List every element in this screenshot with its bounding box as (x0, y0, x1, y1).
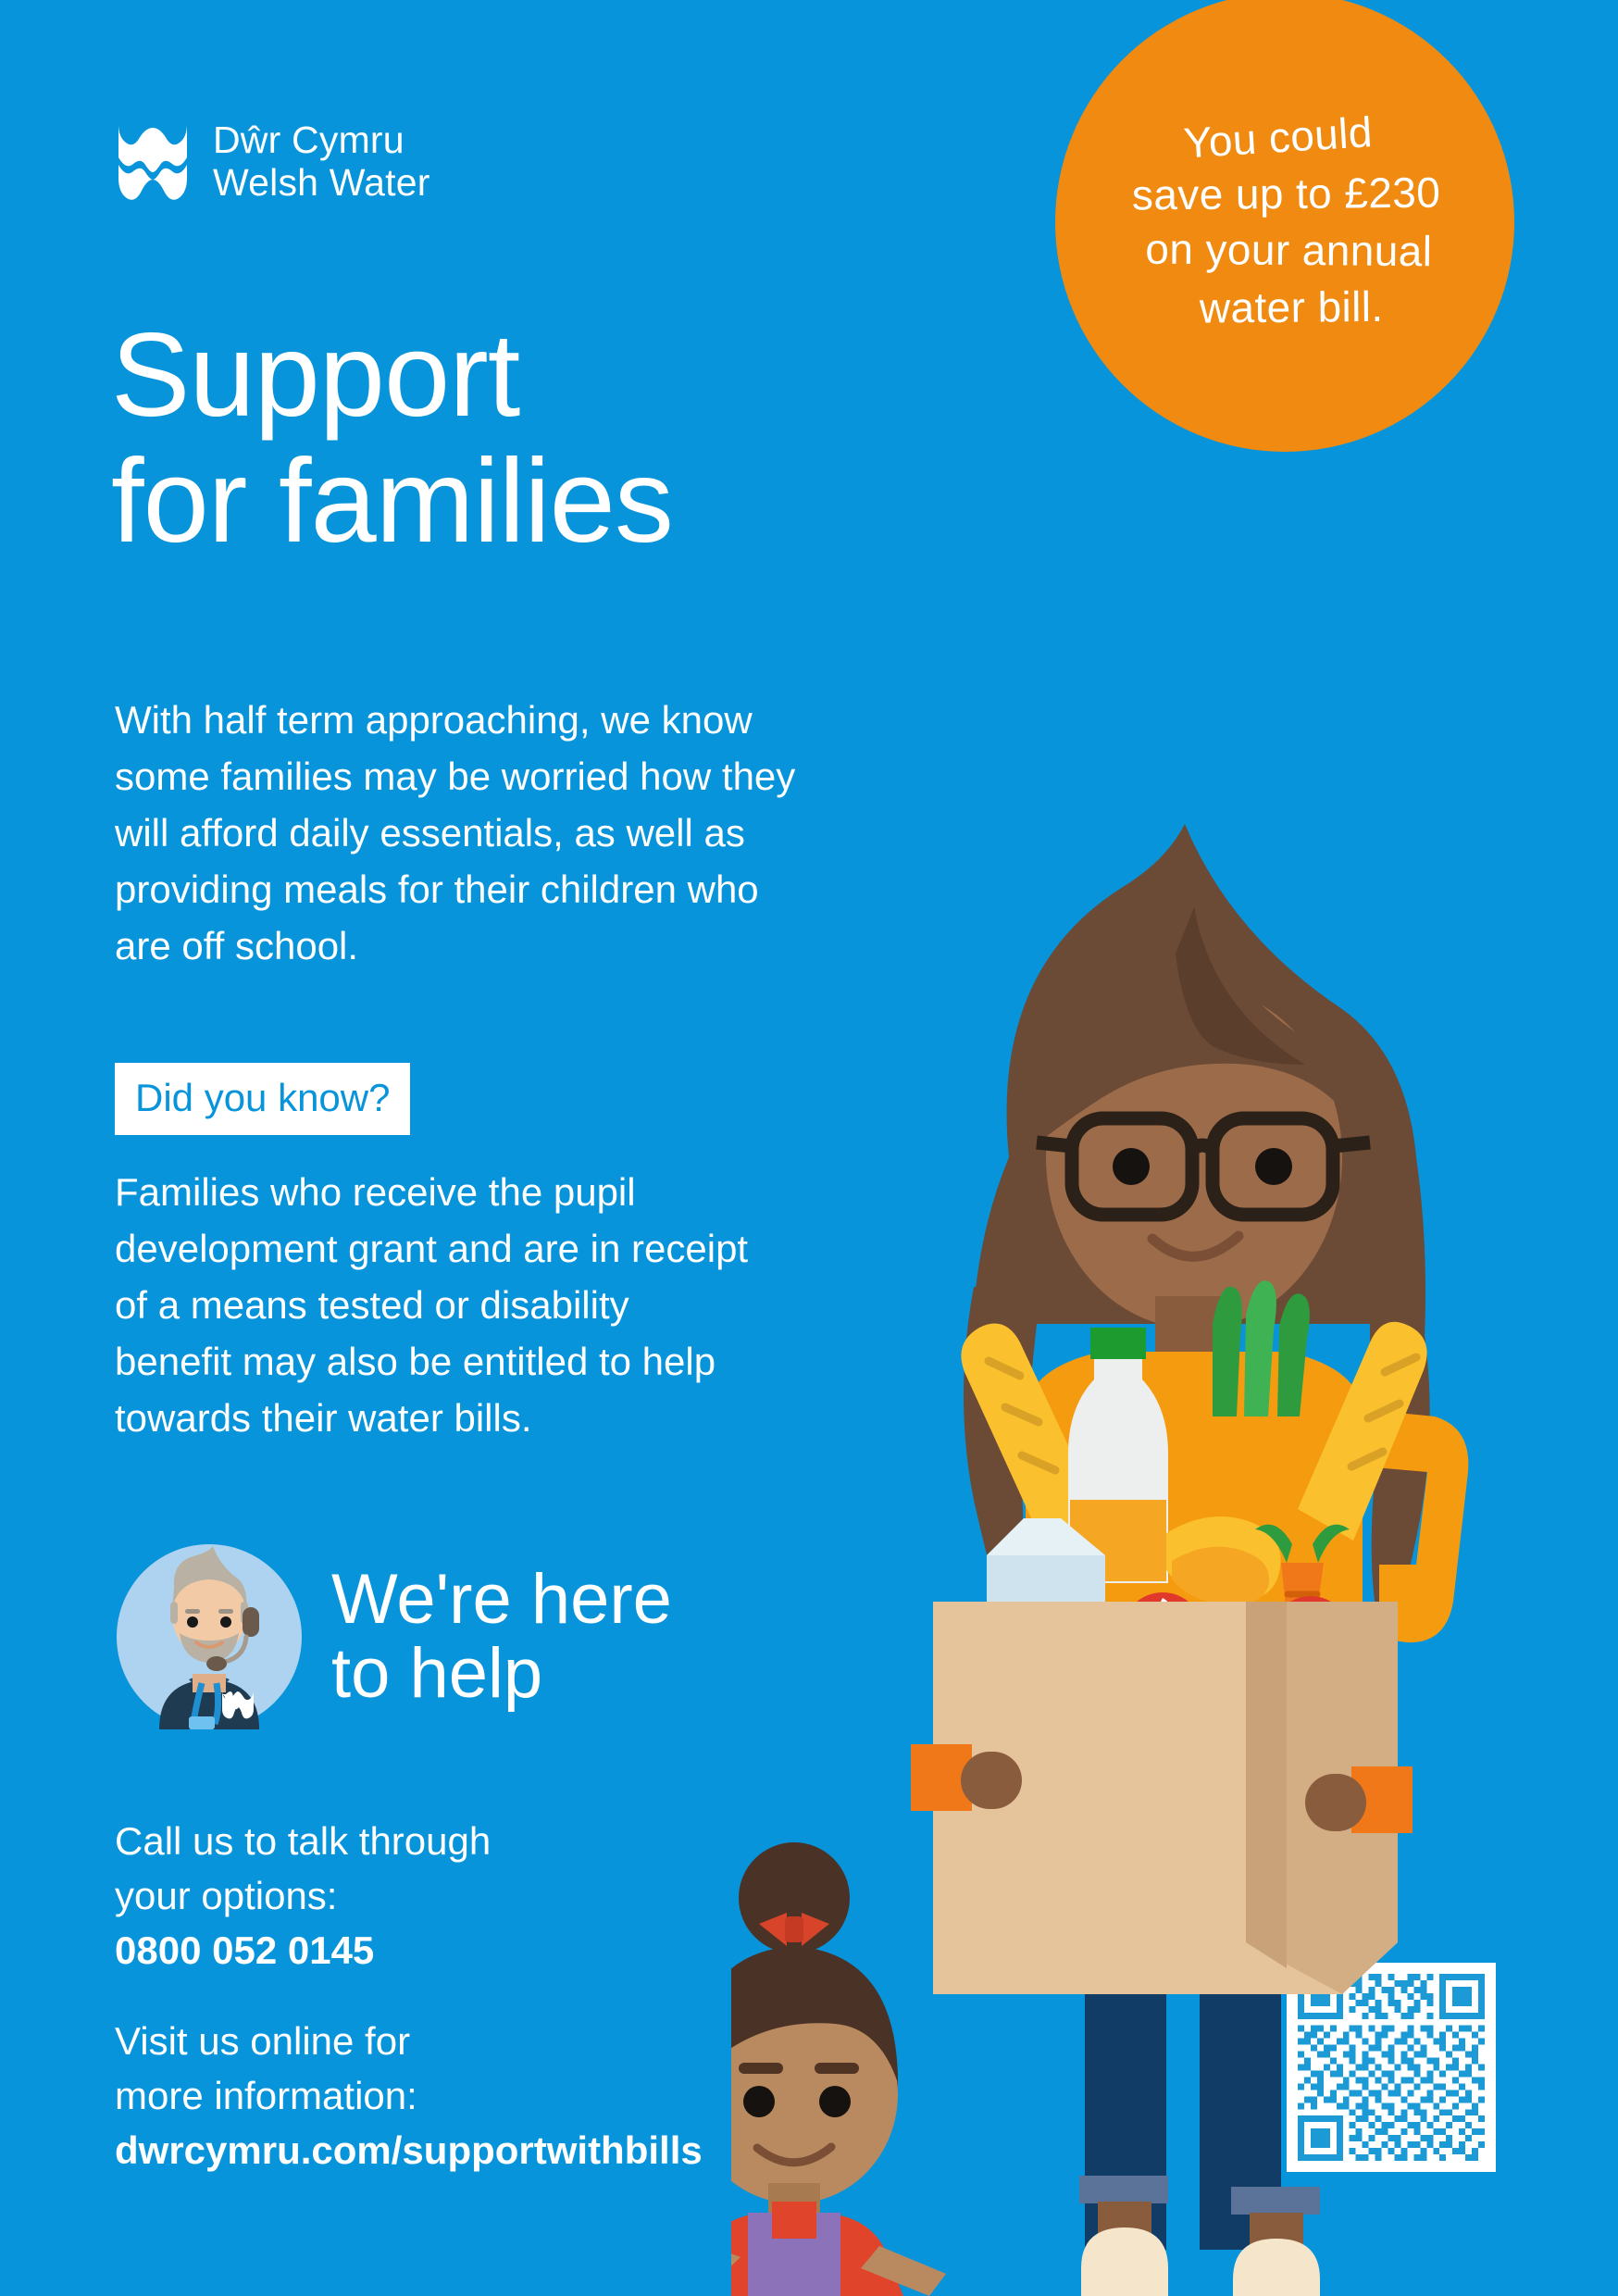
did-you-know-badge: Did you know? (115, 1063, 410, 1135)
poster-canvas: Dŵr Cymru Welsh Water You could save up … (0, 0, 1618, 2296)
phone-number[interactable]: 0800 052 0145 (115, 1924, 703, 1978)
visit-line2: more information: (115, 2069, 703, 2124)
visit-line1: Visit us online for (115, 2015, 703, 2069)
intro-line2: some families may be worried how they (115, 749, 795, 805)
page-title: Support for families (111, 313, 673, 564)
savings-badge-line3: on your annual (1094, 220, 1484, 281)
intro-line5: are off school. (115, 918, 795, 975)
brand-name-line1: Dŵr Cymru (213, 119, 430, 161)
were-here-to-help-section: We're here to help (117, 1544, 672, 1729)
savings-badge-text: You could save up to £230 on your annual… (1082, 94, 1487, 351)
website-url[interactable]: dwrcymru.com/supportwithbills (115, 2124, 703, 2178)
help-title: We're here to help (331, 1563, 672, 1711)
dyk-line3: of a means tested or disability (115, 1278, 748, 1334)
savings-badge: You could save up to £230 on your annual… (1055, 0, 1514, 452)
savings-badge-line4: water bill. (1097, 277, 1487, 337)
brand-logo: Dŵr Cymru Welsh Water (117, 119, 430, 205)
page-title-line2: for families (111, 439, 673, 565)
call-line2: your options: (115, 1869, 703, 1924)
contact-details: Call us to talk through your options: 08… (115, 1815, 703, 2178)
dyk-line5: towards their water bills. (115, 1391, 748, 1447)
dyk-line2: development grant and are in receipt (115, 1221, 748, 1278)
help-title-line2: to help (331, 1637, 672, 1711)
visit-block: Visit us online for more information: dw… (115, 2015, 703, 2177)
brand-name-line2: Welsh Water (213, 161, 430, 204)
call-block: Call us to talk through your options: 08… (115, 1815, 703, 1978)
brand-name: Dŵr Cymru Welsh Water (213, 119, 430, 205)
intro-line4: providing meals for their children who (115, 862, 795, 918)
intro-line3: will afford daily essentials, as well as (115, 805, 795, 862)
dyk-line1: Families who receive the pupil (115, 1165, 748, 1221)
call-agent-avatar-icon (117, 1544, 302, 1729)
savings-badge-line2: save up to £230 (1091, 164, 1481, 224)
welsh-water-wave-logo-icon (117, 122, 189, 200)
intro-line1: With half term approaching, we know (115, 693, 795, 749)
help-title-line1: We're here (331, 1563, 672, 1637)
call-line1: Call us to talk through (115, 1815, 703, 1869)
did-you-know-paragraph: Families who receive the pupil developme… (115, 1165, 748, 1446)
mother-and-daughter-with-groceries-illustration (731, 768, 1618, 2296)
dyk-line4: benefit may also be entitled to help (115, 1334, 748, 1391)
page-title-line1: Support (111, 313, 673, 439)
family-illustration-icon (731, 768, 1618, 2296)
intro-paragraph: With half term approaching, we know some… (115, 693, 795, 974)
